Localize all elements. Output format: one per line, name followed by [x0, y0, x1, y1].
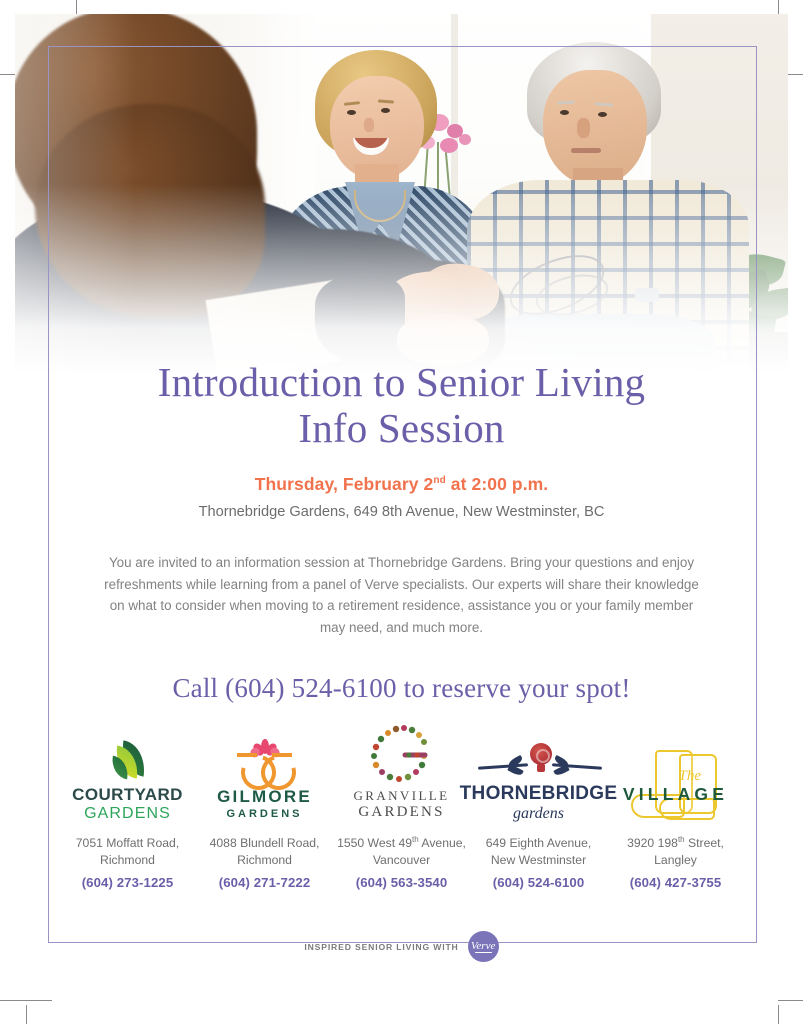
hero-photo-illustration — [15, 14, 788, 374]
event-description: You are invited to an information sessio… — [96, 552, 708, 639]
address-line-1: 1550 West 49th Avenue, — [337, 834, 466, 852]
address-line-2: Richmond — [210, 852, 320, 869]
event-date-prefix: Thursday, February 2 — [255, 474, 434, 494]
logo-name: GILMORE — [217, 788, 312, 807]
verve-wordmark: Verve — [471, 941, 495, 952]
headline-line-2: Info Session — [75, 406, 728, 452]
logo-subname: gardens — [513, 804, 564, 823]
residence-card-the-village: The VILLAGE 3920 198th Street, Langley (… — [607, 738, 744, 893]
address-street-type: Avenue, — [419, 836, 466, 850]
logo-name: THORNEBRIDGE — [460, 784, 618, 804]
residence-card-gilmore-gardens: GILMORE GARDENS 4088 Blundell Road, Rich… — [196, 739, 333, 893]
residence-address: 4088 Blundell Road, Richmond (604) 271-7… — [210, 835, 320, 893]
gg-monogram-flower-icon — [232, 739, 298, 782]
verve-underline-swash — [475, 952, 492, 953]
residence-phone[interactable]: (604) 427-3755 — [627, 874, 724, 893]
logo-subname: GARDENS — [358, 804, 444, 821]
rain-boots-icon: The VILLAGE — [621, 744, 731, 822]
residence-logo-row: COURTYARD GARDENS 7051 Moffatt Road, Ric… — [15, 738, 788, 893]
poster-sheet: Introduction to Senior Living Info Sessi… — [15, 14, 788, 974]
poster-page: Introduction to Senior Living Info Sessi… — [0, 0, 803, 1024]
address-ordinal: th — [412, 835, 419, 844]
logo-subname: GARDENS — [84, 804, 171, 823]
rose-laurel-icon — [474, 743, 604, 783]
residence-address: 3920 198th Street, Langley (604) 427-375… — [627, 834, 724, 893]
residence-phone[interactable]: (604) 271-7222 — [210, 874, 320, 893]
headline-line-1: Introduction to Senior Living — [158, 359, 646, 405]
leaf-icon — [109, 741, 147, 781]
event-time-suffix: at 2:00 p.m. — [446, 474, 548, 494]
residence-address: 7051 Moffatt Road, Richmond (604) 273-12… — [76, 835, 179, 893]
crop-mark-bottom-left-vertical — [26, 1005, 27, 1024]
logo-subname: The — [679, 768, 702, 785]
residence-phone[interactable]: (604) 563-3540 — [337, 874, 466, 893]
event-date-ordinal: nd — [433, 475, 445, 486]
footer-tagline: INSPIRED SENIOR LIVING WITH — [304, 942, 458, 952]
residence-address: 649 Eighth Avenue, New Westminster (604)… — [486, 835, 592, 893]
courtyard-gardens-logo: COURTYARD GARDENS — [59, 739, 196, 823]
address-street-number: 1550 West 49 — [337, 836, 412, 850]
page-title: Introduction to Senior Living Info Sessi… — [15, 360, 788, 452]
logo-name: COURTYARD — [72, 786, 183, 804]
logo-name: VILLAGE — [621, 784, 731, 805]
event-datetime: Thursday, February 2nd at 2:00 p.m. — [15, 474, 788, 495]
hero-photo — [15, 14, 788, 374]
residence-address: 1550 West 49th Avenue, Vancouver (604) 5… — [337, 834, 466, 893]
address-line-2: Langley — [627, 852, 724, 869]
verve-logo-badge: Verve — [468, 931, 499, 962]
address-line-2: Vancouver — [337, 852, 466, 869]
crop-mark-bottom-left-horizontal — [0, 1000, 52, 1001]
residence-card-courtyard-gardens: COURTYARD GARDENS 7051 Moffatt Road, Ric… — [59, 739, 196, 893]
granville-gardens-logo: GRANVILLE GARDENS — [333, 738, 470, 822]
address-ordinal: th — [678, 835, 685, 844]
event-venue: Thornebridge Gardens, 649 8th Avenue, Ne… — [15, 504, 788, 520]
logo-name: GRANVILLE — [354, 788, 450, 804]
address-street-type: Street, — [685, 836, 724, 850]
call-to-action: Call (604) 524-6100 to reserve your spot… — [15, 673, 788, 704]
address-line-2: Richmond — [76, 852, 179, 869]
thornebridge-gardens-logo: THORNEBRIDGE gardens — [470, 739, 607, 823]
residence-card-thornebridge-gardens: THORNEBRIDGE gardens 649 Eighth Avenue, … — [470, 739, 607, 893]
address-line-1: 4088 Blundell Road, — [210, 835, 320, 852]
footer-brandline: INSPIRED SENIOR LIVING WITH Verve — [15, 931, 788, 962]
address-line-2: New Westminster — [486, 852, 592, 869]
gilmore-gardens-logo: GILMORE GARDENS — [196, 739, 333, 823]
the-village-logo: The VILLAGE — [607, 738, 744, 822]
address-line-1: 7051 Moffatt Road, — [76, 835, 179, 852]
residence-phone[interactable]: (604) 524-6100 — [486, 874, 592, 893]
logo-subname: GARDENS — [226, 806, 302, 823]
residence-card-granville-gardens: GRANVILLE GARDENS 1550 West 49th Avenue,… — [333, 738, 470, 893]
address-line-1: 3920 198th Street, — [627, 834, 724, 852]
address-line-1: 649 Eighth Avenue, — [486, 835, 592, 852]
crop-mark-bottom-right-vertical — [778, 1005, 779, 1024]
poster-content: Introduction to Senior Living Info Sessi… — [15, 360, 788, 962]
floral-g-wreath-icon — [365, 722, 439, 784]
address-street-number: 3920 198 — [627, 836, 678, 850]
crop-mark-bottom-right-horizontal — [778, 1000, 803, 1001]
residence-phone[interactable]: (604) 273-1225 — [76, 874, 179, 893]
